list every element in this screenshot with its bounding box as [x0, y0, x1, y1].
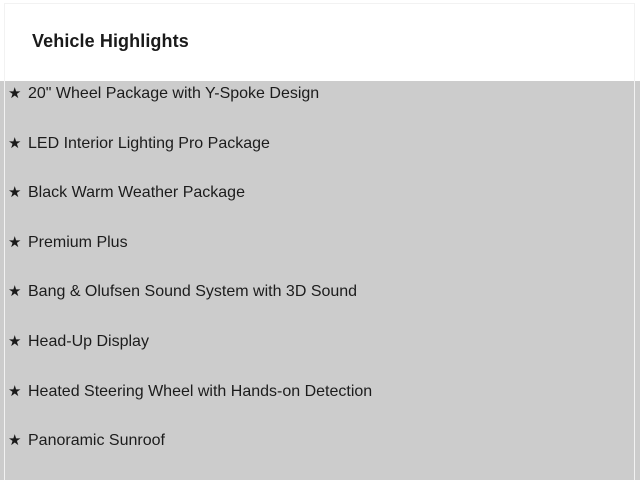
highlights-section: ★ 20" Wheel Package with Y-Spoke Design …	[0, 81, 640, 480]
card-header: Vehicle Highlights	[0, 0, 640, 81]
vehicle-highlights-card: Vehicle Highlights ★ 20" Wheel Package w…	[0, 0, 640, 480]
list-item-label: LED Interior Lighting Pro Package	[28, 131, 640, 157]
list-item: ★ 20" Wheel Package with Y-Spoke Design	[0, 81, 640, 131]
page-title: Vehicle Highlights	[32, 30, 189, 52]
star-icon: ★	[8, 428, 28, 454]
list-item: ★ Panoramic Sunroof	[0, 428, 640, 478]
star-icon: ★	[8, 230, 28, 256]
star-icon: ★	[8, 131, 28, 157]
star-icon: ★	[8, 180, 28, 206]
list-item-label: Premium Plus	[28, 230, 640, 256]
list-item-label: Bang & Olufsen Sound System with 3D Soun…	[28, 279, 640, 305]
list-item: ★ Bang & Olufsen Sound System with 3D So…	[0, 279, 640, 329]
list-item: ★ Premium Plus	[0, 230, 640, 280]
list-item-label: Head-Up Display	[28, 329, 640, 355]
star-icon: ★	[8, 81, 28, 107]
list-item-label: 20" Wheel Package with Y-Spoke Design	[28, 81, 640, 107]
star-icon: ★	[8, 379, 28, 405]
list-item-label: Panoramic Sunroof	[28, 428, 640, 454]
star-icon: ★	[8, 329, 28, 355]
star-icon: ★	[8, 279, 28, 305]
list-item: ★ Black Warm Weather Package	[0, 180, 640, 230]
list-item: ★ Heated Steering Wheel with Hands-on De…	[0, 379, 640, 429]
list-item-label: Black Warm Weather Package	[28, 180, 640, 206]
list-item-label: Heated Steering Wheel with Hands-on Dete…	[28, 379, 640, 405]
vehicle-highlights-list: ★ 20" Wheel Package with Y-Spoke Design …	[0, 81, 640, 478]
list-item: ★ Head-Up Display	[0, 329, 640, 379]
list-item: ★ LED Interior Lighting Pro Package	[0, 131, 640, 181]
